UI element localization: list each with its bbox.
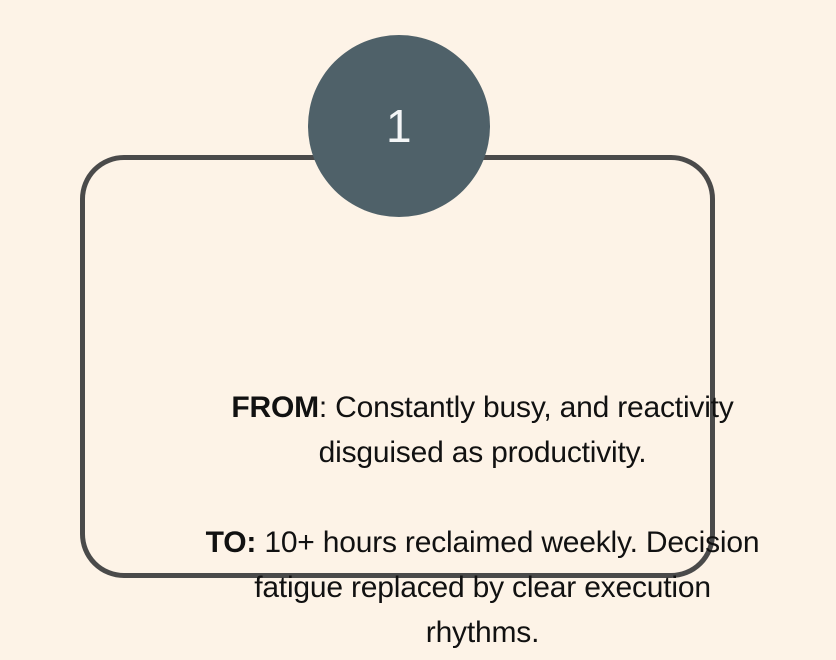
step-number-badge: 1 (308, 35, 490, 217)
to-body: 10+ hours reclaimed weekly. Decision fat… (254, 526, 759, 649)
from-body: Constantly busy, and reactivity disguise… (319, 391, 734, 469)
paragraph-spacer (195, 475, 770, 520)
from-label: FROM (231, 391, 319, 424)
step-number-label: 1 (386, 103, 412, 149)
transformation-card: FROM: Constantly busy, and reactivity di… (80, 155, 715, 578)
card-text-block: FROM: Constantly busy, and reactivity di… (195, 385, 770, 655)
from-separator: : (319, 391, 335, 424)
to-label: TO: (206, 526, 257, 559)
from-statement: FROM: Constantly busy, and reactivity di… (195, 385, 770, 475)
to-statement: TO: 10+ hours reclaimed weekly. Decision… (195, 520, 770, 655)
slide-canvas: FROM: Constantly busy, and reactivity di… (0, 0, 836, 660)
